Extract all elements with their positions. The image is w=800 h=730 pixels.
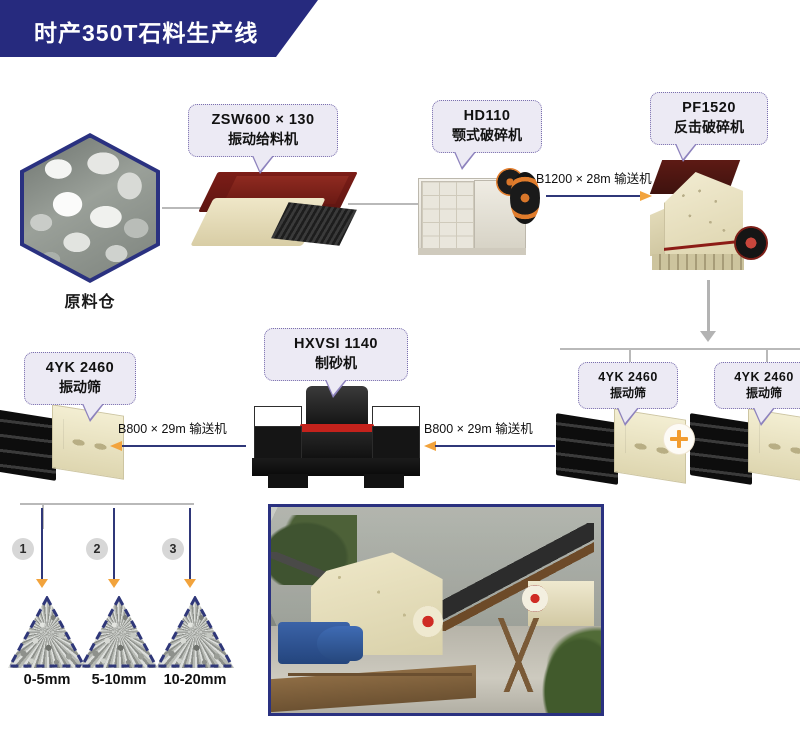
vsi-platform-right (372, 426, 420, 462)
gravel-pile-3 (156, 596, 234, 668)
gravel-pile-2-outline (80, 596, 158, 668)
output-arrow-3 (184, 579, 196, 588)
photo-crusher-flywheel (413, 606, 443, 637)
photo-vegetation-right (535, 626, 601, 713)
callout-feeder-model: ZSW600 × 130 (199, 111, 327, 130)
callout-jaw-name: 颚式破碎机 (443, 126, 531, 144)
gravel-pile-3-outline (156, 596, 234, 668)
output-arrow-1 (36, 579, 48, 588)
screen-decks (556, 413, 618, 485)
impact-crusher-machine (648, 158, 778, 276)
flowchart-canvas: 时产350T石料生产线 原料仓 ZSW600 × 130 振动给料机 HD110… (0, 0, 800, 730)
conveyor-mid-left-line (122, 445, 246, 447)
callout-jaw-model: HD110 (443, 107, 531, 126)
output-drop-3 (189, 508, 191, 580)
conveyor-mid-left-arrowhead (110, 441, 122, 451)
photo-motor-2 (317, 626, 363, 661)
callout-screen-left-model: 4YK 2460 (35, 359, 125, 378)
conveyor-mid-left-label: B800 × 29m 输送机 (118, 418, 258, 437)
impact-flywheel (734, 226, 768, 260)
vibrating-feeder-machine (200, 168, 350, 254)
output-size-3: 10-20mm (145, 672, 245, 688)
output-drop-1 (41, 508, 43, 580)
connector-feeder-jaw (348, 203, 418, 205)
callout-feeder-name: 振动给料机 (199, 130, 327, 148)
callout-jaw-crusher[interactable]: HD110 颚式破碎机 (432, 100, 542, 153)
callout-screen-right-2[interactable]: 4YK 2460 振动筛 (714, 362, 800, 409)
output-arrow-2 (108, 579, 120, 588)
photo-far-flywheel (522, 585, 548, 612)
jaw-base (418, 248, 526, 255)
conveyor-mid-right-line (435, 445, 555, 447)
conveyor-mid-left: B800 × 29m 输送机 (118, 418, 258, 451)
callout-screen-right-2-name: 振动筛 (725, 386, 800, 402)
impact-bolt-pattern (678, 184, 732, 242)
flow-arrow-down-head (700, 331, 716, 342)
output-number-1: 1 (12, 538, 34, 560)
callout-screen-right-2-model: 4YK 2460 (725, 369, 800, 386)
callout-impact-model: PF1520 (661, 99, 757, 118)
vsi-foot-right (364, 474, 404, 488)
callout-screen-right-1-name: 振动筛 (589, 386, 667, 402)
output-distribution-line (20, 503, 194, 505)
conveyor-top-line (546, 195, 641, 197)
callout-impact-crusher[interactable]: PF1520 反击破碎机 (650, 92, 768, 145)
output-drop-2 (113, 508, 115, 580)
callout-sand-maker[interactable]: HXVSI 1140 制砂机 (264, 328, 408, 381)
split-line-horizontal (560, 348, 800, 350)
conveyor-top-label: B1200 × 28m 输送机 (536, 168, 666, 187)
page-title: 时产350T石料生产线 (34, 14, 258, 48)
callout-screen-right-1-model: 4YK 2460 (589, 369, 667, 386)
raw-material-caption: 原料仓 (20, 288, 160, 312)
jaw-side-panel (421, 181, 475, 251)
conveyor-top-arrowhead (640, 191, 652, 201)
screen-decks (690, 413, 752, 485)
split-drop-left (629, 348, 631, 362)
vsi-foot-left (268, 474, 308, 488)
sand-maker-machine (248, 386, 424, 490)
jaw-crusher-machine (412, 160, 540, 258)
callout-sand-maker-name: 制砂机 (275, 354, 397, 372)
callout-feeder[interactable]: ZSW600 × 130 振动给料机 (188, 104, 338, 157)
callout-screen-left[interactable]: 4YK 2460 振动筛 (24, 352, 136, 405)
callout-screen-right-1[interactable]: 4YK 2460 振动筛 (578, 362, 678, 409)
split-drop-right (766, 348, 768, 362)
output-number-3: 3 (162, 538, 184, 560)
gravel-pile-1 (8, 596, 86, 668)
plus-icon (664, 424, 694, 454)
vsi-platform-left (254, 426, 302, 462)
conveyor-mid-right-label: B800 × 29m 输送机 (424, 418, 564, 437)
conveyor-mid-right: B800 × 29m 输送机 (424, 418, 564, 451)
site-photo (268, 504, 604, 716)
flow-arrow-down-stem (707, 280, 710, 332)
gravel-pile-2 (80, 596, 158, 668)
conveyor-top: B1200 × 28m 输送机 (536, 168, 666, 201)
screen-decks (0, 409, 56, 481)
photo-handrail (288, 673, 473, 676)
callout-impact-name: 反击破碎机 (661, 118, 757, 136)
vibrating-screen-right-2 (690, 412, 800, 488)
impact-base (652, 254, 744, 270)
gravel-pile-1-outline (8, 596, 86, 668)
callout-sand-maker-model: HXVSI 1140 (275, 335, 397, 354)
output-number-2: 2 (86, 538, 108, 560)
callout-screen-left-name: 振动筛 (35, 378, 125, 396)
raw-material-hexagon (20, 133, 160, 283)
